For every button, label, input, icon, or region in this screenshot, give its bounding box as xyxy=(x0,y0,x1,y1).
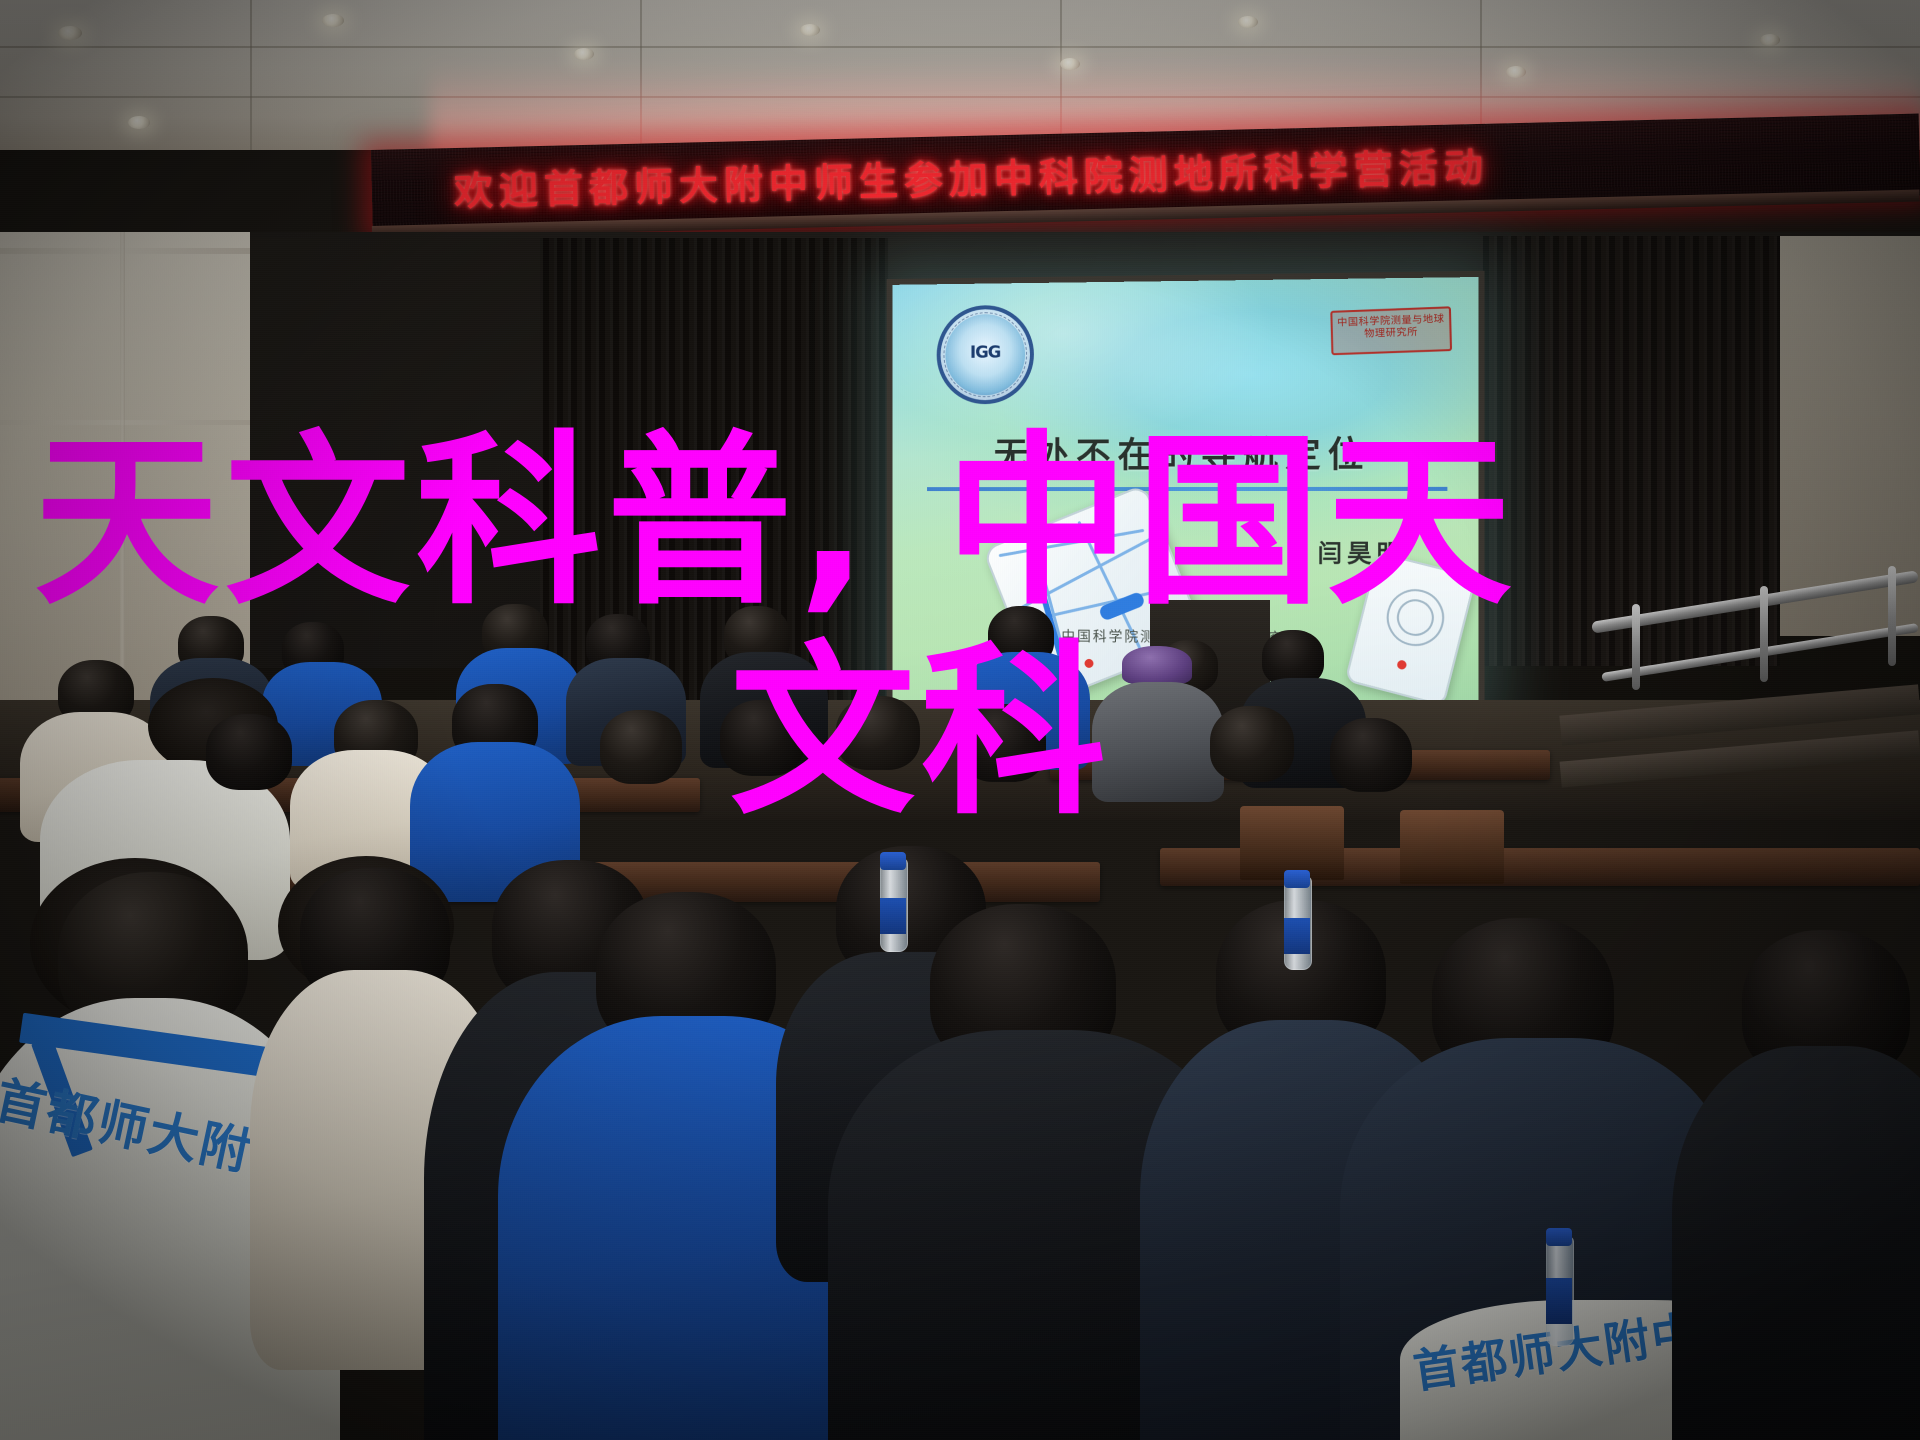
audience-body xyxy=(1672,1046,1920,1440)
ceiling-light xyxy=(1238,16,1258,28)
audience-head xyxy=(1330,718,1412,792)
slide-title-rule xyxy=(927,487,1447,491)
audience-body xyxy=(1092,682,1224,802)
bottle-cap xyxy=(1546,1228,1572,1246)
audience-head xyxy=(836,696,920,770)
audience-head xyxy=(206,714,292,790)
audience-head xyxy=(1210,706,1294,782)
red-seal-stamp: 中国科学院测量与地球物理研究所 xyxy=(1330,306,1452,355)
audience-head xyxy=(960,704,1046,782)
bottle-cap xyxy=(1284,870,1310,888)
bottle-cap xyxy=(880,852,906,870)
logo-text: IGG xyxy=(970,343,1000,363)
bottle-label xyxy=(1546,1278,1572,1324)
audience-head-beanie xyxy=(1122,646,1192,684)
bottle-label xyxy=(880,898,906,934)
ceiling-light xyxy=(58,26,82,40)
audience-head xyxy=(600,710,682,784)
seat-back xyxy=(1240,806,1344,880)
ceiling-light xyxy=(322,14,344,27)
institute-logo-icon: IGG xyxy=(937,305,1034,405)
seat-back xyxy=(1400,810,1504,884)
photo-canvas: 欢迎首都师大附中师生参加中科院测地所科学营活动 IGG 中国科学院测量与地球物理… xyxy=(0,0,1920,1440)
wall-strip xyxy=(0,420,250,425)
wall-strip xyxy=(0,248,250,254)
audience-area: 首都师大附中 首都师大附中 xyxy=(0,600,1920,1440)
slide-title: 无处不在的导航定位 xyxy=(892,426,1478,479)
ceiling-seam xyxy=(250,0,252,150)
audience-head xyxy=(720,700,804,776)
ceiling-light xyxy=(128,116,150,129)
bottle-label xyxy=(1284,918,1310,954)
